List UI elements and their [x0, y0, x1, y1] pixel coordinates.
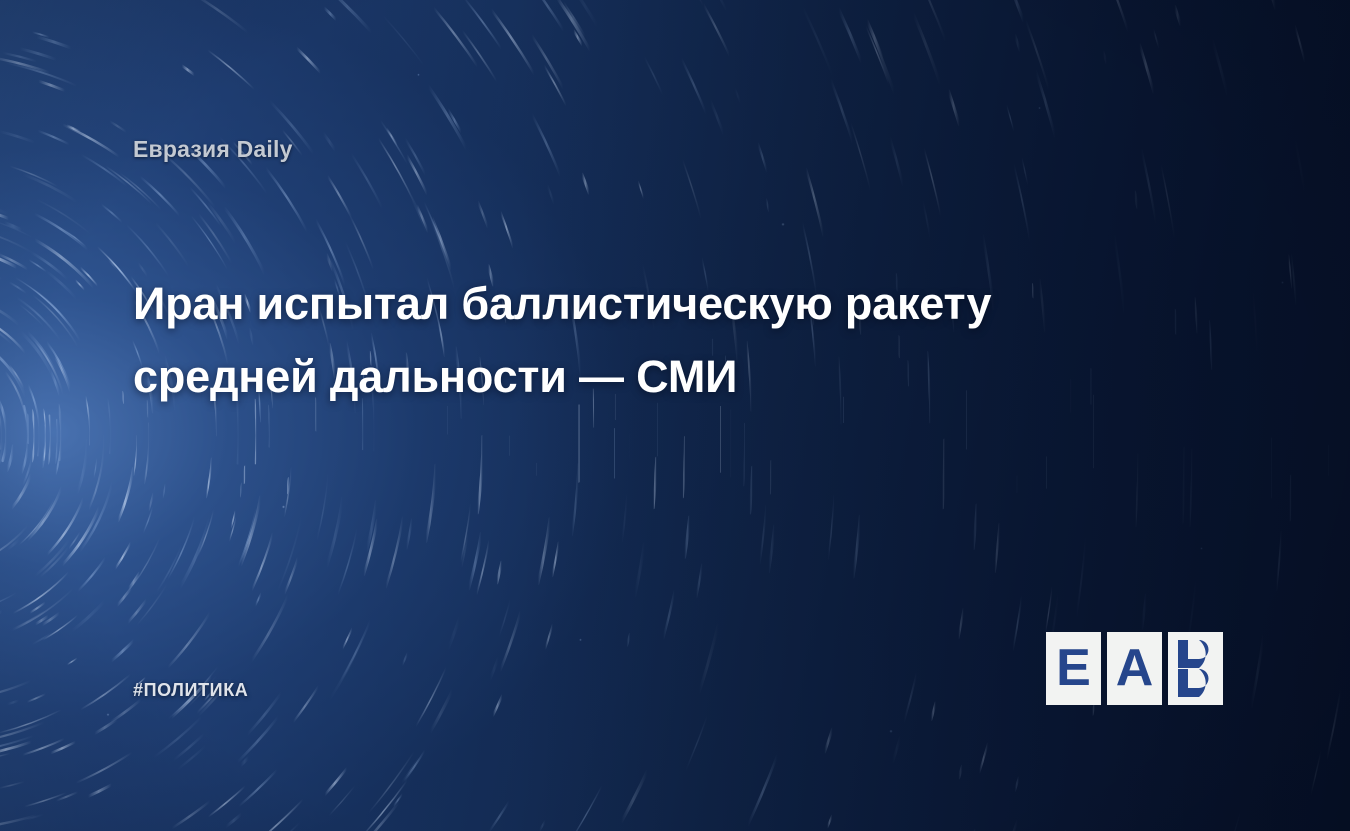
page-title: Иран испытал баллистическую ракету средн… — [133, 268, 1213, 414]
logo-letter-a: A — [1116, 642, 1154, 694]
logo-tile-d — [1168, 632, 1223, 705]
ead-logo[interactable]: E A — [1046, 632, 1223, 705]
social-share-card: Евразия Daily Иран испытал баллистическу… — [0, 0, 1350, 831]
logo-tile-a: A — [1107, 632, 1162, 705]
headline-line-1: Иран испытал баллистическую ракету — [133, 268, 1213, 341]
logo-tile-d-top-half — [1168, 632, 1223, 669]
headline-line-2: средней дальности — СМИ — [133, 341, 1213, 414]
brand-title: Евразия Daily — [133, 136, 293, 163]
category-tag[interactable]: #ПОЛИТИКА — [133, 680, 248, 701]
logo-tile-e: E — [1046, 632, 1101, 705]
logo-letter-e: E — [1056, 642, 1091, 694]
logo-tile-d-bottom-half — [1168, 669, 1223, 706]
